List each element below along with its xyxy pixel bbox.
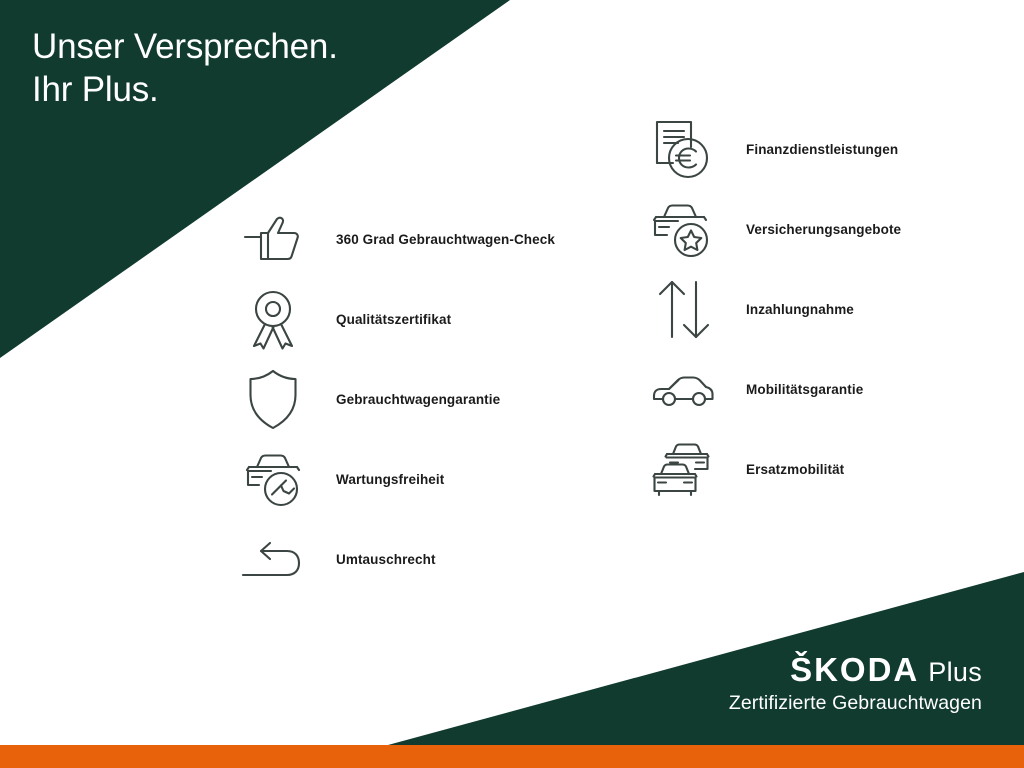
feature-label: Wartungsfreiheit — [336, 472, 444, 487]
feature-label: Qualitätszertifikat — [336, 312, 451, 327]
up-down-arrows-icon — [650, 277, 716, 341]
feature-item-finanzdienstleistungen: Finanzdienstleistungen — [650, 114, 901, 184]
logo-wordmark-row: ŠKODA Plus — [729, 653, 982, 686]
feature-label: Ersatzmobilität — [746, 462, 844, 477]
feature-item-mobilitaetsgarantie: Mobilitätsgarantie — [650, 354, 901, 424]
headline-line-2: Ihr Plus. — [32, 69, 338, 112]
document-euro-icon — [650, 117, 716, 181]
feature-item-umtauschrecht: Umtauschrecht — [240, 524, 555, 594]
award-rosette-icon — [240, 287, 306, 351]
feature-item-versicherungsangebote: Versicherungsangebote — [650, 194, 901, 264]
orange-footer-bar — [0, 745, 1024, 768]
thumbs-up-icon — [240, 207, 306, 271]
feature-list-right: Finanzdienstleistungen Versicherungsange… — [650, 114, 901, 514]
car-side-icon — [650, 357, 716, 421]
headline-line-1: Unser Versprechen. — [32, 26, 338, 69]
promo-banner: Unser Versprechen. Ihr Plus. 360 Grad Ge… — [0, 0, 1024, 768]
feature-label: Umtauschrecht — [336, 552, 436, 567]
logo-tagline: Zertifizierte Gebrauchtwagen — [729, 693, 982, 714]
feature-list-left: 360 Grad Gebrauchtwagen-Check Qualitätsz… — [240, 204, 555, 604]
feature-label: Finanzdienstleistungen — [746, 142, 898, 157]
return-arrow-icon — [240, 527, 306, 591]
feature-item-gebrauchtwagen-check: 360 Grad Gebrauchtwagen-Check — [240, 204, 555, 274]
feature-item-gebrauchtwagengarantie: Gebrauchtwagengarantie — [240, 364, 555, 434]
skoda-plus-logo: ŠKODA Plus Zertifizierte Gebrauchtwagen — [729, 653, 982, 714]
feature-item-wartungsfreiheit: Wartungsfreiheit — [240, 444, 555, 514]
two-cars-icon — [650, 437, 716, 501]
feature-label: Versicherungsangebote — [746, 222, 901, 237]
feature-label: Inzahlungnahme — [746, 302, 854, 317]
skoda-wordmark: ŠKODA — [790, 653, 919, 686]
feature-item-inzahlungnahme: Inzahlungnahme — [650, 274, 901, 344]
page-title: Unser Versprechen. Ihr Plus. — [32, 26, 338, 111]
feature-label: Gebrauchtwagengarantie — [336, 392, 500, 407]
feature-item-qualitaetszertifikat: Qualitätszertifikat — [240, 284, 555, 354]
car-star-icon — [650, 197, 716, 261]
shield-icon — [240, 367, 306, 431]
feature-label: Mobilitätsgarantie — [746, 382, 863, 397]
car-wrench-icon — [240, 447, 306, 511]
plus-wordmark: Plus — [928, 659, 982, 686]
feature-label: 360 Grad Gebrauchtwagen-Check — [336, 232, 555, 247]
feature-item-ersatzmobilitaet: Ersatzmobilität — [650, 434, 901, 504]
